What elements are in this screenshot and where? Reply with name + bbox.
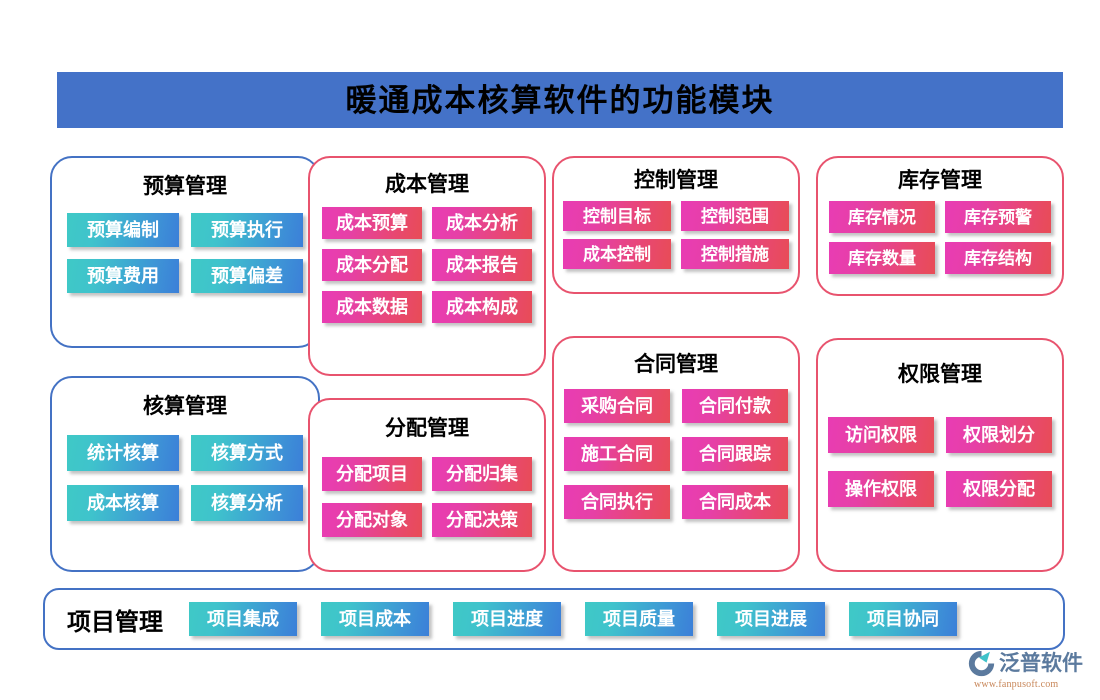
card-inventory: 库存管理库存情况库存预警库存数量库存结构: [816, 156, 1064, 296]
chip-control-4[interactable]: 控制措施: [681, 239, 789, 269]
brand-logo: 泛普软件 www.fanpusoft.com: [968, 650, 1094, 694]
chip-permission-3[interactable]: 操作权限: [828, 471, 934, 507]
chip-grid-contract: 采购合同合同付款施工合同合同跟踪合同执行合同成本: [564, 389, 788, 519]
chip-accounting-2[interactable]: 核算方式: [191, 435, 303, 471]
page-title: 暖通成本核算软件的功能模块: [346, 85, 775, 116]
chip-inventory-1[interactable]: 库存情况: [829, 201, 935, 233]
chip-budget-3[interactable]: 预算费用: [67, 259, 179, 293]
card-cost: 成本管理成本预算成本分析成本分配成本报告成本数据成本构成: [308, 156, 546, 376]
chip-cost-3[interactable]: 成本分配: [322, 249, 422, 281]
project-management-title: 项目管理: [67, 602, 163, 637]
chip-grid-control: 控制目标控制范围成本控制控制措施: [563, 201, 789, 269]
chip-inventory-3[interactable]: 库存数量: [829, 242, 935, 274]
chip-contract-2[interactable]: 合同付款: [682, 389, 788, 423]
chip-grid-permission: 访问权限权限划分操作权限权限分配: [828, 417, 1052, 507]
card-title-control: 控制管理: [554, 170, 798, 191]
chip-grid-inventory: 库存情况库存预警库存数量库存结构: [829, 201, 1051, 274]
logo-row: 泛普软件: [968, 650, 1083, 677]
chip-accounting-4[interactable]: 核算分析: [191, 485, 303, 521]
chip-contract-4[interactable]: 合同跟踪: [682, 437, 788, 471]
chip-contract-3[interactable]: 施工合同: [564, 437, 670, 471]
chip-budget-2[interactable]: 预算执行: [191, 213, 303, 247]
chip-allocation-4[interactable]: 分配决策: [432, 503, 532, 537]
chip-inventory-2[interactable]: 库存预警: [945, 201, 1051, 233]
chip-project-4[interactable]: 项目质量: [585, 602, 693, 636]
chip-grid-allocation: 分配项目分配归集分配对象分配决策: [322, 457, 532, 537]
chip-cost-4[interactable]: 成本报告: [432, 249, 532, 281]
card-title-inventory: 库存管理: [818, 170, 1062, 191]
chip-accounting-1[interactable]: 统计核算: [67, 435, 179, 471]
chip-contract-1[interactable]: 采购合同: [564, 389, 670, 423]
chip-cost-6[interactable]: 成本构成: [432, 291, 532, 323]
chip-project-3[interactable]: 项目进度: [453, 602, 561, 636]
card-allocation: 分配管理分配项目分配归集分配对象分配决策: [308, 398, 546, 572]
card-title-contract: 合同管理: [554, 354, 798, 375]
swirl-arrow-icon: [968, 650, 995, 677]
card-contract: 合同管理采购合同合同付款施工合同合同跟踪合同执行合同成本: [552, 336, 800, 572]
chip-accounting-3[interactable]: 成本核算: [67, 485, 179, 521]
chip-project-1[interactable]: 项目集成: [189, 602, 297, 636]
chip-project-5[interactable]: 项目进展: [717, 602, 825, 636]
chip-allocation-3[interactable]: 分配对象: [322, 503, 422, 537]
card-accounting: 核算管理统计核算核算方式成本核算核算分析: [50, 376, 320, 572]
logo-wordmark: 泛普软件: [999, 653, 1083, 674]
chip-contract-5[interactable]: 合同执行: [564, 485, 670, 519]
chip-control-2[interactable]: 控制范围: [681, 201, 789, 231]
page-title-banner: 暖通成本核算软件的功能模块: [57, 72, 1063, 128]
infographic-canvas: 暖通成本核算软件的功能模块 预算管理预算编制预算执行预算费用预算偏差成本管理成本…: [0, 0, 1100, 700]
logo-url: www.fanpusoft.com: [974, 679, 1058, 690]
chip-permission-2[interactable]: 权限划分: [946, 417, 1052, 453]
chip-cost-1[interactable]: 成本预算: [322, 207, 422, 239]
chip-budget-1[interactable]: 预算编制: [67, 213, 179, 247]
chip-allocation-1[interactable]: 分配项目: [322, 457, 422, 491]
card-title-budget: 预算管理: [52, 176, 318, 197]
chip-control-1[interactable]: 控制目标: [563, 201, 671, 231]
card-title-cost: 成本管理: [310, 174, 544, 195]
card-control: 控制管理控制目标控制范围成本控制控制措施: [552, 156, 800, 294]
chip-cost-2[interactable]: 成本分析: [432, 207, 532, 239]
project-management-bar: 项目管理 项目集成项目成本项目进度项目质量项目进展项目协同: [43, 588, 1065, 650]
chip-permission-1[interactable]: 访问权限: [828, 417, 934, 453]
card-title-permission: 权限管理: [818, 364, 1062, 385]
chip-inventory-4[interactable]: 库存结构: [945, 242, 1051, 274]
chip-budget-4[interactable]: 预算偏差: [191, 259, 303, 293]
chip-cost-5[interactable]: 成本数据: [322, 291, 422, 323]
card-permission: 权限管理访问权限权限划分操作权限权限分配: [816, 338, 1064, 572]
card-title-accounting: 核算管理: [52, 396, 318, 417]
chip-control-3[interactable]: 成本控制: [563, 239, 671, 269]
chip-grid-accounting: 统计核算核算方式成本核算核算分析: [67, 435, 303, 521]
chip-project-6[interactable]: 项目协同: [849, 602, 957, 636]
chip-allocation-2[interactable]: 分配归集: [432, 457, 532, 491]
card-budget: 预算管理预算编制预算执行预算费用预算偏差: [50, 156, 320, 348]
chip-grid-cost: 成本预算成本分析成本分配成本报告成本数据成本构成: [322, 207, 532, 323]
card-title-allocation: 分配管理: [310, 418, 544, 439]
chip-contract-6[interactable]: 合同成本: [682, 485, 788, 519]
chip-project-2[interactable]: 项目成本: [321, 602, 429, 636]
project-management-chip-list: 项目集成项目成本项目进度项目质量项目进展项目协同: [189, 602, 957, 636]
chip-grid-budget: 预算编制预算执行预算费用预算偏差: [67, 213, 303, 293]
chip-permission-4[interactable]: 权限分配: [946, 471, 1052, 507]
